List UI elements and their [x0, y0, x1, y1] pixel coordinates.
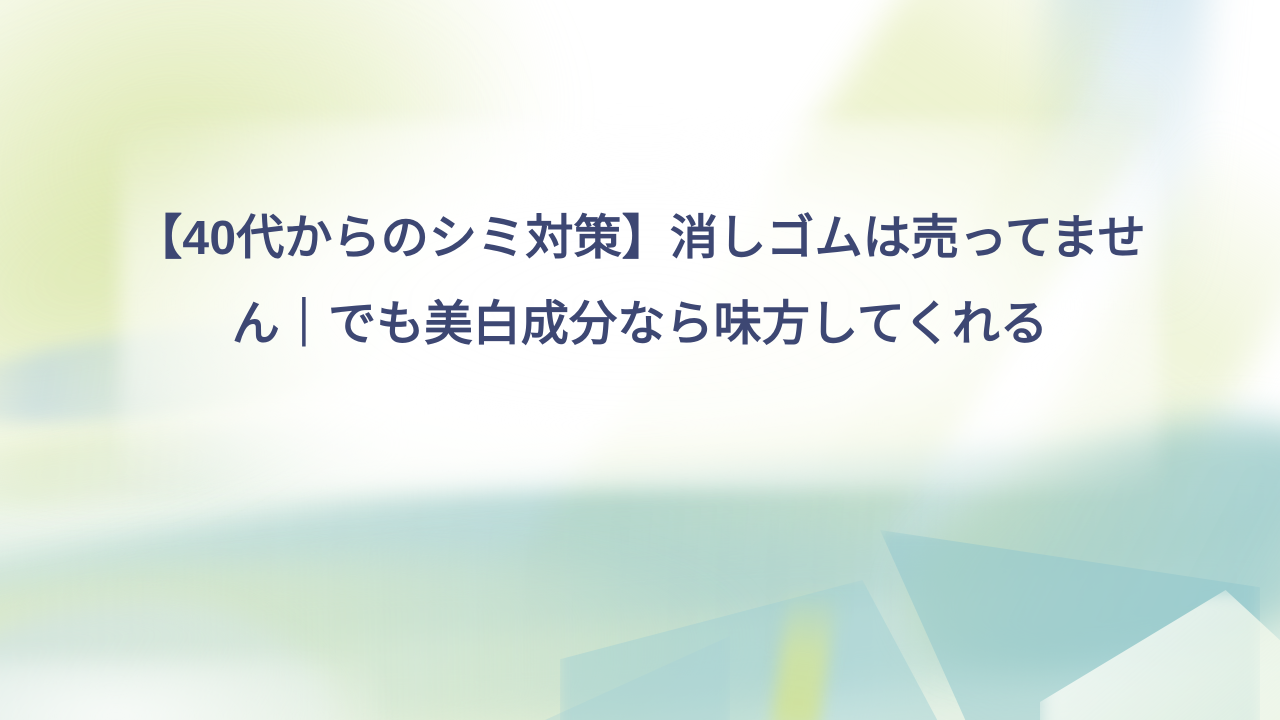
- headline-block: 【40代からのシミ対策】消しゴムは売ってません｜でも美白成分なら味方してくれる: [0, 196, 1280, 368]
- bottom-facet-right: [880, 530, 1260, 720]
- title-card: 【40代からのシミ対策】消しゴムは売ってません｜でも美白成分なら味方してくれる: [0, 0, 1280, 720]
- bottom-left-pale-blue-petal: [0, 600, 340, 720]
- bottom-left-white-haze: [0, 660, 380, 720]
- mid-left-green-swoosh: [0, 407, 402, 522]
- bottom-yellow-green-flash: [766, 587, 837, 720]
- teal-wave-band-1: [0, 399, 1280, 691]
- bottom-facet-center: [560, 580, 980, 720]
- diagonal-yellow-green-ribbon-2: [573, 37, 1176, 720]
- bottom-right-teal-sweep: [881, 383, 1280, 708]
- teal-wave-band-2: [0, 481, 1280, 720]
- lower-left-yellow-green-band: [0, 534, 765, 720]
- bottom-facet-left: [300, 600, 730, 720]
- page-title: 【40代からのシミ対策】消しゴムは売ってません｜でも美白成分なら味方してくれる: [130, 196, 1150, 368]
- bottom-right-cream-wedge: [1040, 590, 1280, 720]
